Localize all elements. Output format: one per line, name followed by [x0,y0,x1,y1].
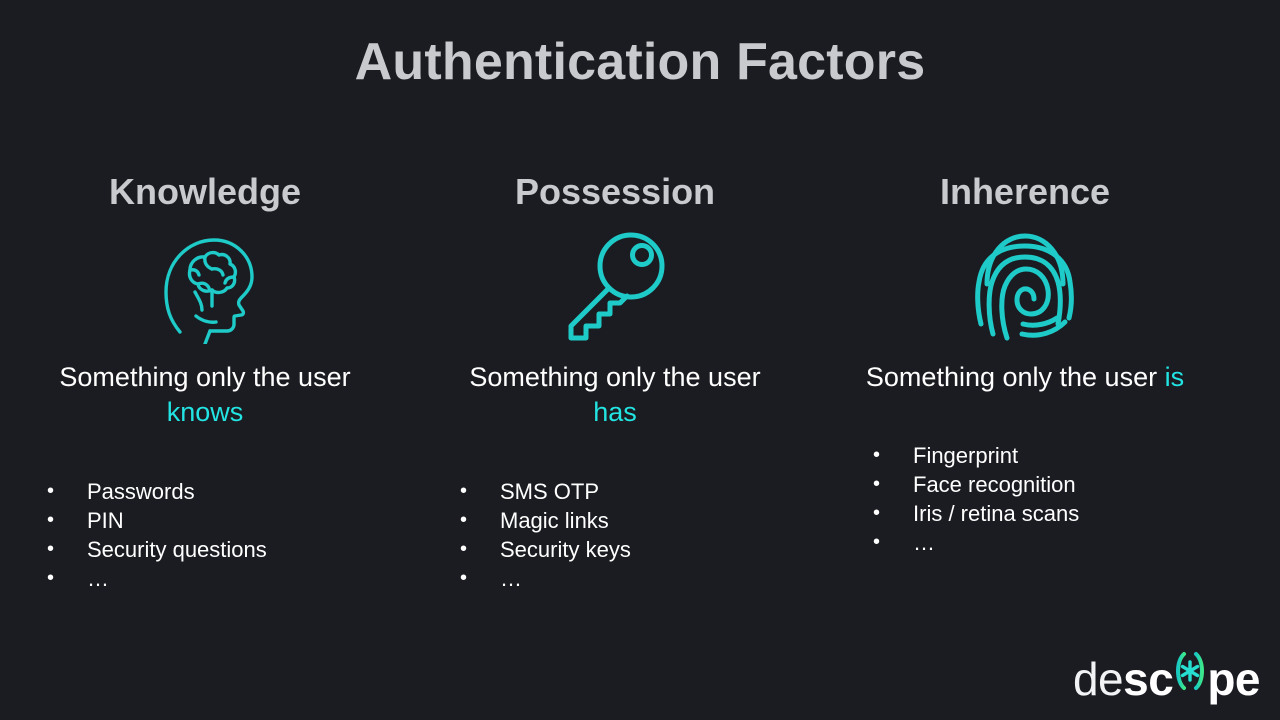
list-item-label: Passwords [87,477,267,506]
list-item: • Magic links [460,506,790,535]
factor-column-possession: Possession Something only the user has •… [410,172,820,593]
bullet-marker: • [47,477,87,506]
column-heading-knowledge: Knowledge [109,172,301,212]
slide-canvas: Authentication Factors Knowledge [0,0,1280,720]
asterisk-in-brackets-icon [1173,649,1207,695]
tagline-knowledge: Something only the user knows [40,360,370,431]
list-item: • Passwords [47,477,377,506]
page-title: Authentication Factors [0,34,1280,91]
list-item: • Iris / retina scans [873,499,1203,528]
list-item-label: Security questions [87,535,267,564]
bullet-marker: • [460,506,500,535]
bullet-marker: • [873,499,913,528]
tagline-prefix: Something only the user [59,362,350,392]
bullet-marker: • [460,477,500,506]
bullet-marker: • [460,535,500,564]
bullet-marker: • [873,441,913,470]
factor-column-inherence: Inherence Somethi [820,172,1230,557]
list-item: • Security keys [460,535,790,564]
bullet-marker: • [47,564,87,593]
descope-logo: desc pe [1073,649,1260,702]
list-item-label: Iris / retina scans [913,499,1143,528]
list-item-label: SMS OTP [500,477,730,506]
bullet-list-possession: • SMS OTP • Magic links • Security keys … [460,477,790,593]
list-item: • PIN [47,506,377,535]
tagline-prefix: Something only the user [469,362,760,392]
list-item-label: Magic links [500,506,730,535]
bullet-marker: • [47,506,87,535]
tagline-prefix: Something only the user [866,362,1165,392]
bullet-list-inherence: • Fingerprint • Face recognition • Iris … [873,441,1203,557]
logo-text-sc: sc [1123,656,1173,702]
list-item: • … [47,564,377,593]
list-item-label: PIN [87,506,267,535]
list-item-label: Fingerprint [913,441,1143,470]
tagline-accent: knows [167,397,244,427]
bullet-marker: • [873,470,913,499]
tagline-possession: Something only the user has [450,360,780,431]
bullet-list-knowledge: • Passwords • PIN • Security questions •… [47,477,377,593]
list-item: • Security questions [47,535,377,564]
logo-text-pe: pe [1207,656,1260,702]
column-heading-inherence: Inherence [940,172,1110,212]
bullet-marker: • [460,564,500,593]
list-item-label: Security keys [500,535,730,564]
tagline-inherence: Something only the user is [860,360,1190,396]
head-brain-icon [150,228,260,344]
list-item: • Face recognition [873,470,1203,499]
tagline-accent: is [1165,362,1185,392]
key-icon [559,228,671,344]
list-item: • … [460,564,790,593]
bullet-marker: • [47,535,87,564]
factor-column-knowledge: Knowledge Somethi [0,172,410,593]
column-heading-possession: Possession [515,172,715,212]
bullet-marker: • [873,528,913,557]
list-item-label: … [913,528,1143,557]
list-item: • SMS OTP [460,477,790,506]
list-item: • Fingerprint [873,441,1203,470]
factor-columns: Knowledge Somethi [0,172,1280,593]
tagline-accent: has [593,397,637,427]
fingerprint-icon [969,228,1081,344]
list-item-label: … [87,564,267,593]
list-item: • … [873,528,1203,557]
list-item-label: … [500,564,730,593]
logo-text-de: de [1073,656,1123,702]
list-item-label: Face recognition [913,470,1143,499]
